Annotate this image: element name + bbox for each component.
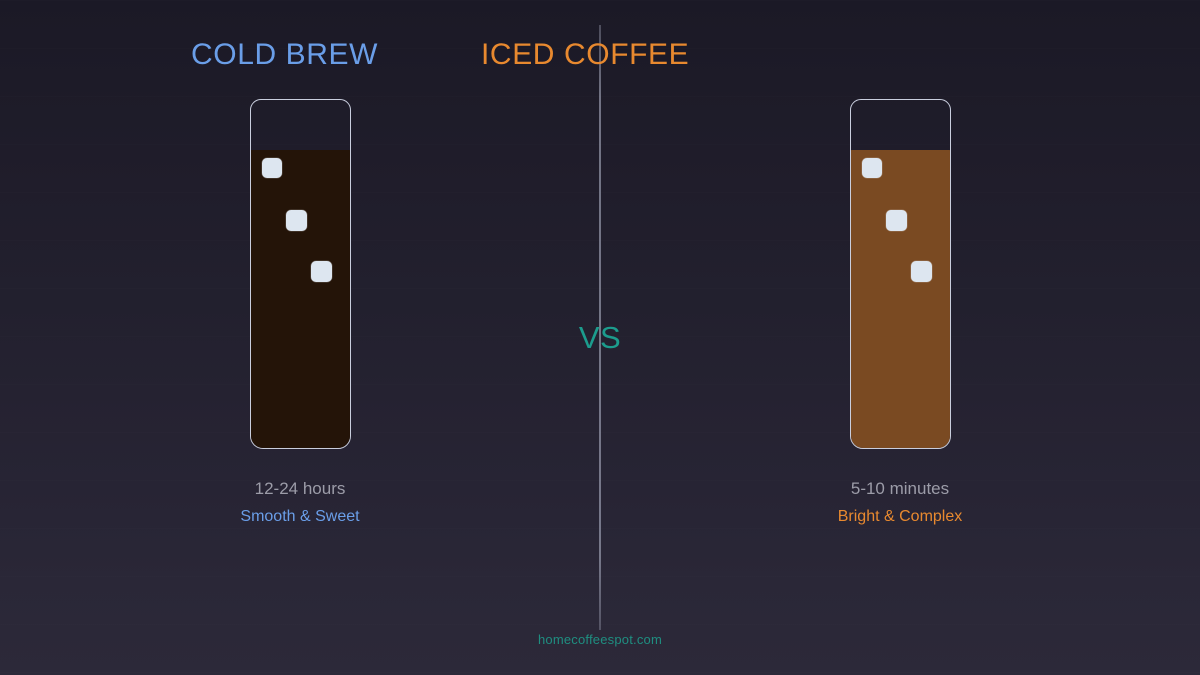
ice-cube-icon (262, 158, 282, 178)
ice-cube-icon (862, 158, 882, 178)
liquid-cold-brew (250, 150, 351, 449)
comparison-infographic: COLD BREW ICED COFFEE VS 12-24 hours Smo… (0, 0, 1200, 675)
ice-cube-icon (311, 261, 332, 282)
heading-iced-coffee: ICED COFFEE (481, 38, 689, 72)
heading-cold-brew: COLD BREW (191, 38, 378, 72)
caption-iced-coffee: 5-10 minutes Bright & Complex (750, 476, 1050, 531)
glass-iced-coffee (850, 99, 951, 449)
brew-time-cold-brew: 12-24 hours (150, 476, 450, 502)
brew-time-iced-coffee: 5-10 minutes (750, 476, 1050, 502)
glass-cold-brew (250, 99, 351, 449)
ice-cube-icon (286, 210, 307, 231)
liquid-iced-coffee (850, 150, 951, 449)
footer-website-label: homecoffeespot.com (0, 632, 1200, 647)
caption-cold-brew: 12-24 hours Smooth & Sweet (150, 476, 450, 531)
flavor-note-cold-brew: Smooth & Sweet (150, 502, 450, 531)
ice-cube-icon (886, 210, 907, 231)
ice-cube-icon (911, 261, 932, 282)
vs-label: VS (0, 320, 1200, 356)
flavor-note-iced-coffee: Bright & Complex (750, 502, 1050, 531)
